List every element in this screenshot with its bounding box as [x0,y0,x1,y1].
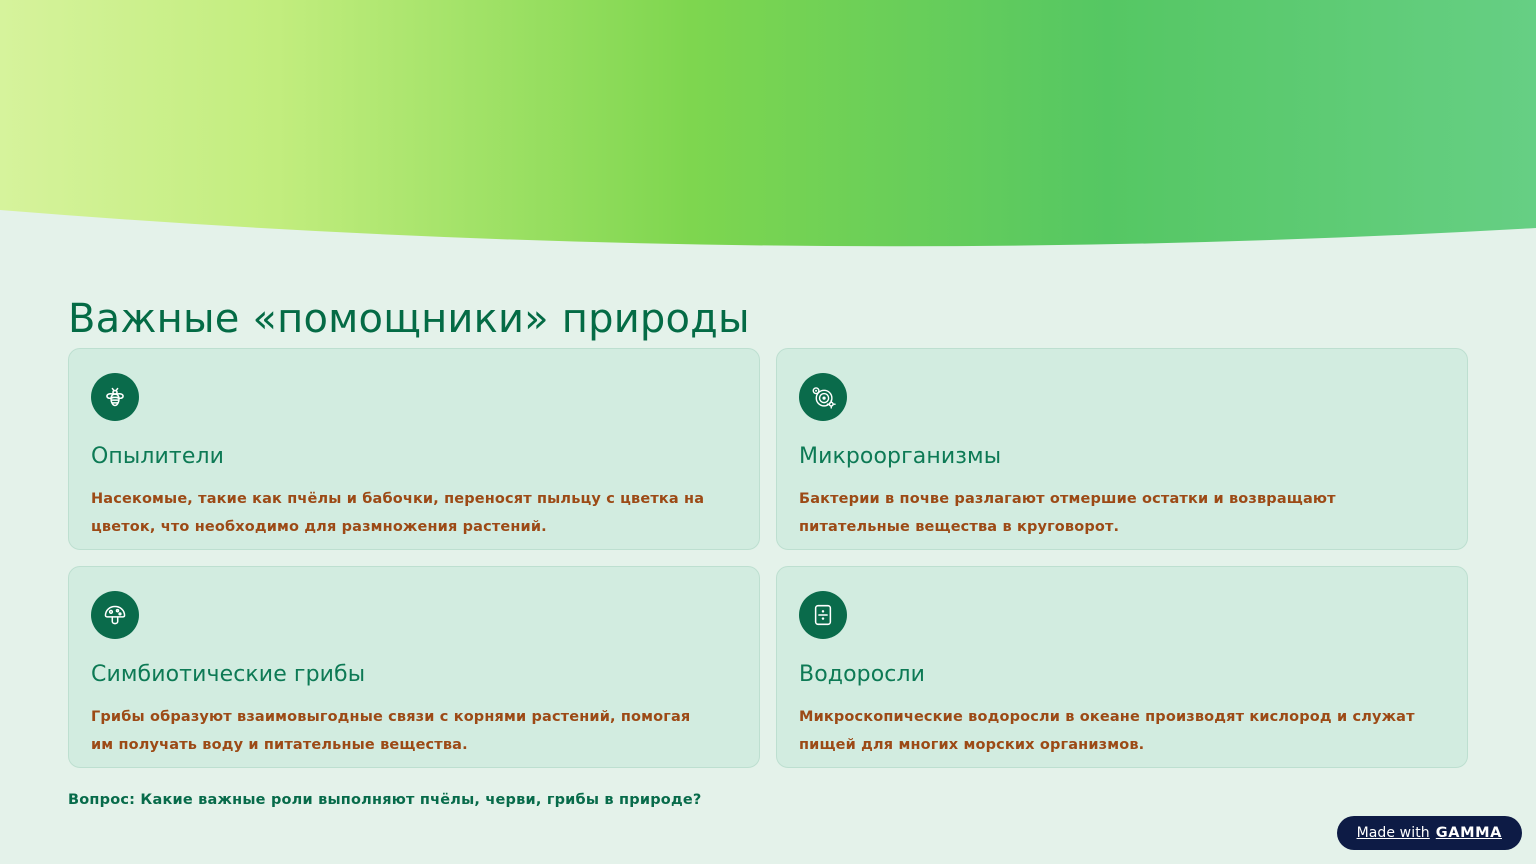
card-algae[interactable]: Водоросли Микроскопические водоросли в о… [776,566,1468,768]
cards-grid: Опылители Насекомые, такие как пчёлы и б… [68,348,1468,768]
microorganism-icon [799,373,847,421]
slide-content: Важные «помощники» природы Опылители Нас… [0,0,1536,864]
card-body: Бактерии в почве разлагают отмершие оста… [799,485,1424,542]
card-body: Микроскопические водоросли в океане прои… [799,703,1424,760]
made-with-gamma-badge[interactable]: Made with GAMMA [1337,816,1522,850]
bee-icon [91,373,139,421]
card-title: Водоросли [799,661,1445,689]
card-symbiotic-fungi[interactable]: Симбиотические грибы Грибы образуют взаи… [68,566,760,768]
card-title: Симбиотические грибы [91,661,737,689]
card-body: Насекомые, такие как пчёлы и бабочки, пе… [91,485,716,542]
page-title: Важные «помощники» природы [68,295,750,343]
question-prompt: Вопрос: Какие важные роли выполняют пчёл… [68,792,702,808]
card-title: Опылители [91,443,737,471]
badge-prefix: Made with [1357,825,1430,841]
card-pollinators[interactable]: Опылители Насекомые, такие как пчёлы и б… [68,348,760,550]
card-body: Грибы образуют взаимовыгодные связи с ко… [91,703,716,760]
card-title: Микроорганизмы [799,443,1445,471]
card-microorganisms[interactable]: Микроорганизмы Бактерии в почве разлагаю… [776,348,1468,550]
mushroom-icon [91,591,139,639]
gamma-wordmark: GAMMA [1436,825,1502,841]
algae-icon [799,591,847,639]
